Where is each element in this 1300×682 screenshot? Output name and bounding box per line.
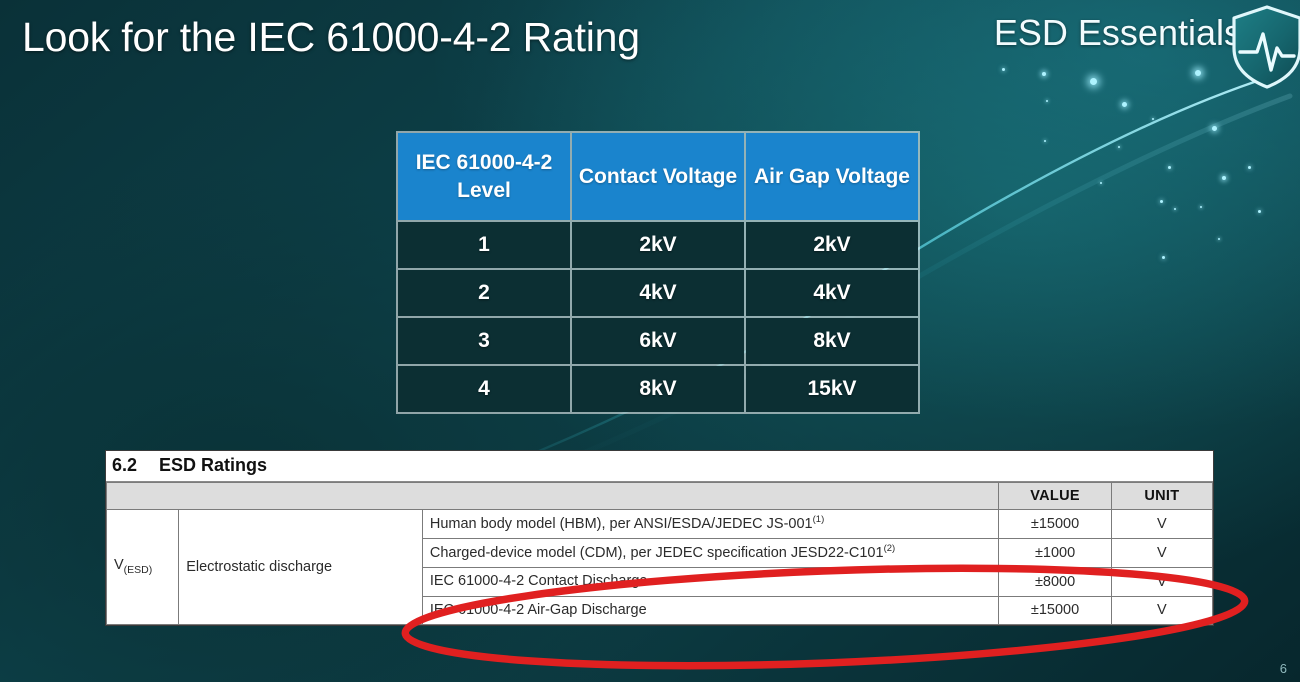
section-title: ESD Ratings (159, 455, 267, 476)
particle-dot (1160, 200, 1163, 203)
cell-air-gap: 2kV (746, 222, 918, 268)
column-header-air-gap: Air Gap Voltage (746, 133, 918, 220)
cell-air-gap: 8kV (746, 318, 918, 364)
slide-title: Look for the IEC 61000-4-2 Rating (22, 14, 640, 61)
cell-description: Human body model (HBM), per ANSI/ESDA/JE… (422, 510, 999, 539)
footnote-marker: (2) (884, 543, 896, 554)
cell-description: Charged-device model (CDM), per JEDEC sp… (422, 539, 999, 568)
esd-ratings-table: VALUE UNIT V(ESD) Electrostatic discharg… (106, 482, 1213, 625)
cell-description: IEC 61000-4-2 Contact Discharge (422, 568, 999, 596)
particle-dot (1044, 140, 1046, 142)
description-text: Charged-device model (CDM), per JEDEC sp… (430, 545, 884, 561)
cell-value: ±8000 (999, 568, 1111, 596)
cell-level: 2 (398, 270, 570, 316)
cell-value: ±15000 (999, 596, 1111, 624)
table-row: V(ESD) Electrostatic discharge Human bod… (107, 510, 1213, 539)
symbol-subscript: (ESD) (124, 564, 153, 576)
particle-dot (1200, 206, 1202, 208)
particle-dot (1042, 72, 1046, 76)
section-number: 6.2 (112, 455, 137, 476)
table-row: 4 8kV 15kV (398, 366, 918, 412)
cell-value: ±15000 (999, 510, 1111, 539)
column-header-level: IEC 61000-4-2 Level (398, 133, 570, 220)
cell-air-gap: 15kV (746, 366, 918, 412)
cell-unit: V (1111, 568, 1212, 596)
symbol-v: V (114, 557, 124, 573)
particle-dot (1248, 166, 1251, 169)
column-header-unit: UNIT (1111, 483, 1212, 510)
particle-dot (1222, 176, 1226, 180)
iec-level-table: IEC 61000-4-2 Level Contact Voltage Air … (396, 131, 920, 414)
description-text: Human body model (HBM), per ANSI/ESDA/JE… (430, 516, 813, 532)
table-row: 1 2kV 2kV (398, 222, 918, 268)
page-number: 6 (1280, 661, 1287, 676)
cell-unit: V (1111, 539, 1212, 568)
cell-contact: 6kV (572, 318, 744, 364)
cell-air-gap: 4kV (746, 270, 918, 316)
particle-dot (1195, 70, 1201, 76)
datasheet-excerpt: 6.2 ESD Ratings VALUE UNIT V(ESD) Electr… (105, 450, 1214, 626)
cell-unit: V (1111, 596, 1212, 624)
particle-dot (1168, 166, 1171, 169)
table-row: 2 4kV 4kV (398, 270, 918, 316)
cell-symbol-vesd: V(ESD) (107, 510, 179, 625)
particle-dot (1212, 126, 1217, 131)
cell-contact: 2kV (572, 222, 744, 268)
cell-contact: 4kV (572, 270, 744, 316)
cell-contact: 8kV (572, 366, 744, 412)
particle-dot (1002, 68, 1005, 71)
header-blank-cell (107, 483, 999, 510)
cell-unit: V (1111, 510, 1212, 539)
footnote-marker: (1) (813, 514, 825, 525)
cell-description: IEC 61000-4-2 Air-Gap Discharge (422, 596, 999, 624)
table-row: 3 6kV 8kV (398, 318, 918, 364)
particle-dot (1152, 118, 1154, 120)
table-header-row: IEC 61000-4-2 Level Contact Voltage Air … (398, 133, 918, 220)
cell-parameter: Electrostatic discharge (179, 510, 423, 625)
datasheet-header-row: VALUE UNIT (107, 483, 1213, 510)
particle-dot (1046, 100, 1048, 102)
datasheet-section-heading: 6.2 ESD Ratings (106, 451, 1213, 482)
particle-dot (1118, 146, 1120, 148)
column-header-value: VALUE (999, 483, 1111, 510)
column-header-contact: Contact Voltage (572, 133, 744, 220)
particle-dot (1162, 256, 1165, 259)
cell-level: 3 (398, 318, 570, 364)
particle-dot (1258, 210, 1261, 213)
particle-dot (1122, 102, 1127, 107)
particle-dot (1100, 182, 1102, 184)
cell-value: ±1000 (999, 539, 1111, 568)
slide-canvas: Look for the IEC 61000-4-2 Rating ESD Es… (0, 0, 1300, 682)
particle-dot (1218, 238, 1220, 240)
particle-dot (1090, 78, 1097, 85)
brand-lockup: ESD Essentials (994, 12, 1242, 54)
cell-level: 4 (398, 366, 570, 412)
brand-name: ESD Essentials (994, 12, 1242, 54)
particle-dot (1174, 208, 1176, 210)
shield-pulse-icon (1230, 4, 1300, 90)
cell-level: 1 (398, 222, 570, 268)
